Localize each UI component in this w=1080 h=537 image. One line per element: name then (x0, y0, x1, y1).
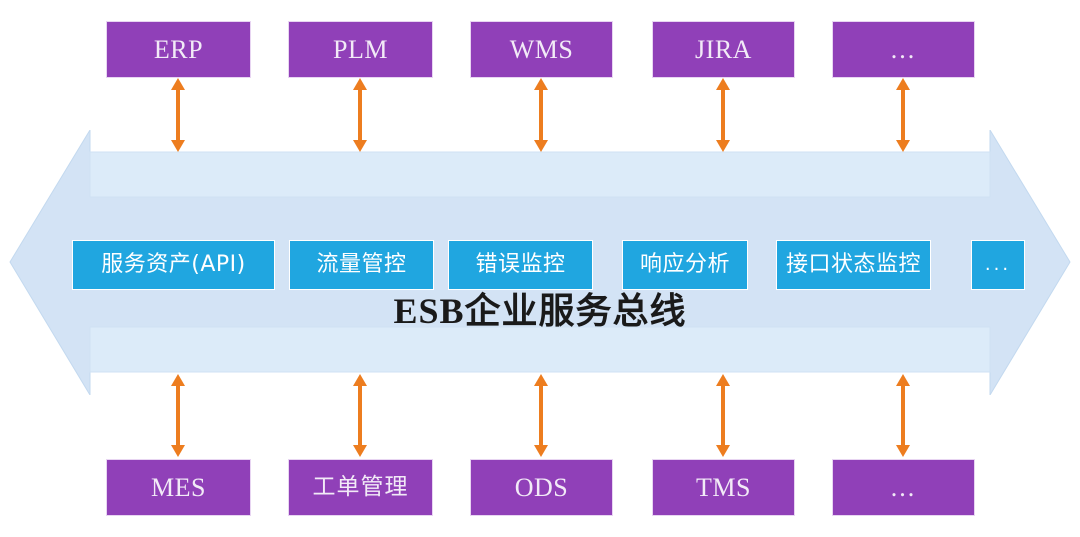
system-box-wms[interactable]: WMS (470, 21, 613, 78)
bus-lower-band (90, 327, 990, 372)
connector-bottom-tms (713, 374, 733, 462)
service-box-error-monitoring[interactable]: 错误监控 (448, 240, 593, 290)
service-box-response-analysis[interactable]: 响应分析 (622, 240, 748, 290)
system-box-work-order-management[interactable]: 工单管理 (288, 459, 433, 516)
connector-bottom-work-order (350, 374, 370, 462)
service-box-traffic-control[interactable]: 流量管控 (289, 240, 434, 290)
connector-bottom-mes (168, 374, 188, 462)
connector-top-plm (350, 78, 370, 157)
connector-top-jira (713, 78, 733, 157)
system-box-mes[interactable]: MES (106, 459, 251, 516)
connector-bottom-ods (531, 374, 551, 462)
connector-top-wms (531, 78, 551, 157)
service-box-service-assets-api[interactable]: 服务资产(API) (72, 240, 275, 290)
service-box-more[interactable]: ... (971, 240, 1025, 290)
bus-upper-band (90, 152, 990, 197)
system-box-more[interactable]: ... (832, 459, 975, 516)
system-box-ods[interactable]: ODS (470, 459, 613, 516)
system-box-erp[interactable]: ERP (106, 21, 251, 78)
system-box-plm[interactable]: PLM (288, 21, 433, 78)
system-box-more[interactable]: ... (832, 21, 975, 78)
system-box-tms[interactable]: TMS (652, 459, 795, 516)
esb-bus-title: ESB企业服务总线 (0, 293, 1080, 329)
system-box-jira[interactable]: JIRA (652, 21, 795, 78)
diagram-canvas: ESB企业服务总线 ERPPLMWMSJIRA... 服务资产(API)流量管控… (0, 0, 1080, 537)
connector-top-erp (168, 78, 188, 157)
connector-top-more (893, 78, 913, 157)
connector-bottom-more (893, 374, 913, 462)
service-box-interface-status-monitoring[interactable]: 接口状态监控 (776, 240, 931, 290)
